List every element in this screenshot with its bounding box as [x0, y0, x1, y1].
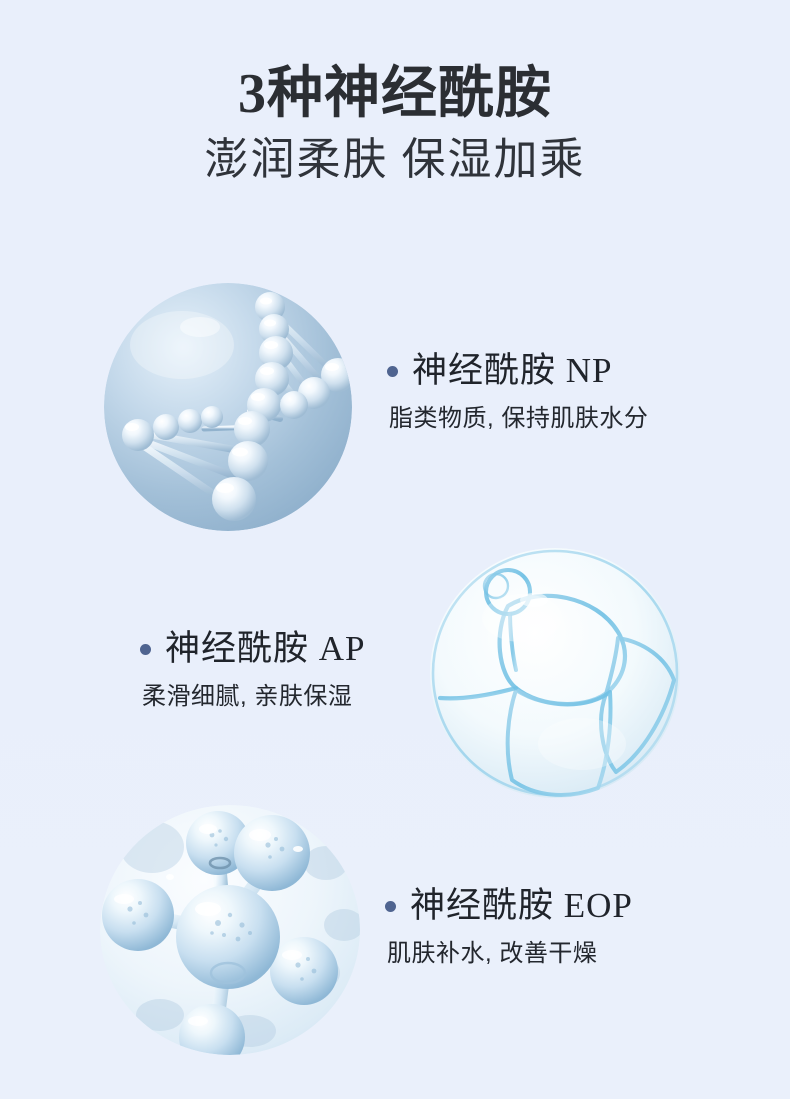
page-header: 3种神经酰胺 澎润柔肤 保湿加乘 — [0, 62, 790, 188]
ingredient-eop-description: 肌肤补水, 改善干燥 — [387, 937, 633, 971]
ingredient-np-name: 神经酰胺 NP — [412, 350, 613, 392]
page-subtitle: 澎润柔肤 保湿加乘 — [0, 132, 790, 188]
ingredient-np-description: 脂类物质, 保持肌肤水分 — [389, 402, 648, 436]
ingredient-eop-name: 神经酰胺 EOP — [410, 885, 633, 927]
ingredient-ap-description: 柔滑细腻, 亲肤保湿 — [142, 680, 366, 714]
bullet-dot-icon — [387, 366, 398, 377]
bubble-foam-sphere-image — [430, 548, 680, 798]
ingredient-eop-heading: 神经酰胺 EOP — [385, 885, 633, 927]
ingredient-np-heading: 神经酰胺 NP — [387, 350, 648, 392]
ingredient-ap-heading: 神经酰胺 AP — [140, 628, 366, 670]
ingredient-block-ap: 神经酰胺 AP 柔滑细腻, 亲肤保湿 — [140, 628, 366, 714]
molecule-model-sphere-image — [100, 805, 360, 1055]
bullet-dot-icon — [140, 644, 151, 655]
bullet-dot-icon — [385, 901, 396, 912]
product-ingredient-infographic: 3种神经酰胺 澎润柔肤 保湿加乘 — [0, 0, 790, 1099]
ingredient-ap-name: 神经酰胺 AP — [165, 628, 366, 670]
page-title: 3种神经酰胺 — [0, 62, 790, 126]
ingredient-block-eop: 神经酰胺 EOP 肌肤补水, 改善干燥 — [385, 885, 633, 971]
molecular-chain-sphere-image — [104, 283, 352, 531]
ingredient-block-np: 神经酰胺 NP 脂类物质, 保持肌肤水分 — [387, 350, 648, 436]
